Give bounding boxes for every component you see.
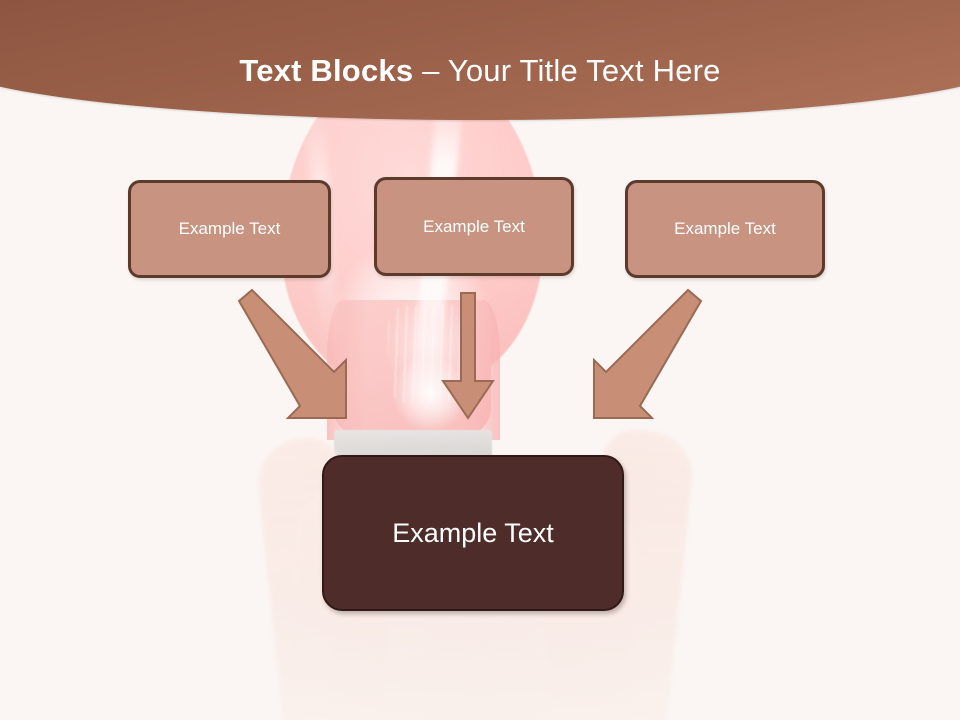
page-title-bold: Text Blocks (239, 53, 413, 88)
arrow-down-icon (440, 292, 496, 422)
slide-canvas: Text Blocks – Your Title Text Here Examp… (0, 0, 960, 720)
text-block-1-label: Example Text (179, 219, 281, 239)
text-block-3[interactable]: Example Text (625, 180, 825, 278)
text-block-2-label: Example Text (423, 217, 525, 237)
result-text-block-label: Example Text (392, 518, 554, 549)
text-block-2[interactable]: Example Text (374, 177, 574, 276)
page-title-separator: – (413, 53, 448, 88)
page-title: Text Blocks – Your Title Text Here (0, 52, 960, 90)
text-block-3-label: Example Text (674, 219, 776, 239)
result-text-block[interactable]: Example Text (322, 455, 624, 611)
page-title-light: Your Title Text Here (448, 53, 721, 88)
arrow-down-right-icon (225, 286, 355, 421)
arrow-down-left-icon (585, 286, 715, 421)
text-block-1[interactable]: Example Text (128, 180, 331, 278)
